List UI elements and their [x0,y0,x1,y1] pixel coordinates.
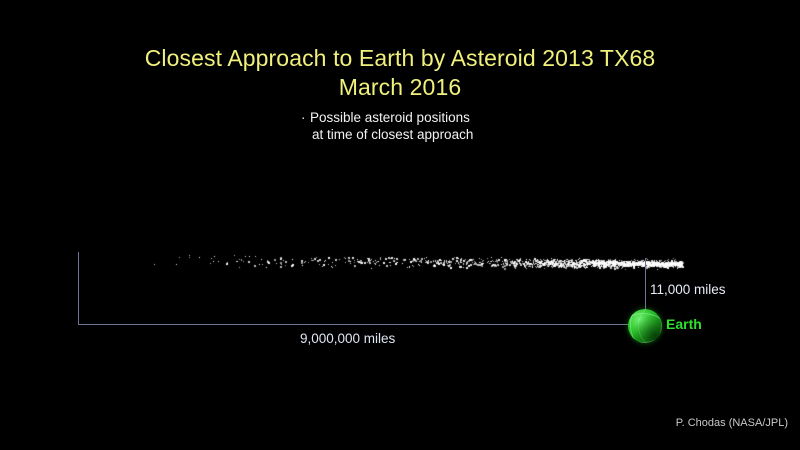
earth-sphere-icon [628,309,662,343]
earth-label: Earth [666,316,702,332]
title-line-1: Closest Approach to Earth by Asteroid 20… [0,44,800,73]
page-title: Closest Approach to Earth by Asteroid 20… [0,44,800,102]
bullet-line-2: at time of closest approach [310,126,473,143]
horizontal-distance-label: 9,000,000 miles [300,331,395,346]
vertical-distance-label: 11,000 miles [650,282,726,297]
bullet-line-1: Possible asteroid positions [310,109,473,126]
slide-canvas: Closest Approach to Earth by Asteroid 20… [0,0,800,450]
bullet-point-icon: · [301,109,306,126]
asteroid-position-scatter [70,246,690,274]
title-line-2: March 2016 [0,73,800,102]
axis-horizontal-baseline [78,324,648,325]
axis-left-tick [78,252,79,325]
earth-shading [628,309,662,343]
asteroid-dots-canvas [70,246,690,274]
legend-bullet-block: · Possible asteroid positions at time of… [310,109,473,143]
credit-line: P. Chodas (NASA/JPL) [676,417,788,429]
